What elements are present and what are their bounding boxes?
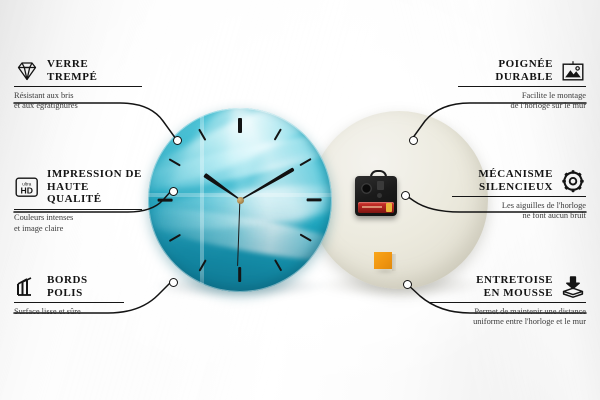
feature-header: ultra HD IMPRESSION DE HAUTE QUALITÉ	[14, 168, 142, 206]
mechanism-switch	[377, 181, 384, 190]
feature-subtitle: Facilite le montage de l'horloge sur le …	[458, 91, 586, 112]
picture-hanger-icon	[560, 59, 586, 83]
feature-header: ENTRETOISE EN MOUSSE	[430, 274, 586, 299]
foam-spacer-icon	[560, 275, 586, 299]
leader-dot-bords-polis	[169, 278, 178, 287]
feature-bords-polis: BORDS POLIS Surface lisse et sûre	[14, 274, 124, 317]
leader-dot-mecanisme	[401, 191, 410, 200]
battery-stripe	[362, 206, 382, 208]
feature-rule	[14, 302, 124, 303]
feature-rule	[14, 86, 142, 87]
feature-subtitle: Surface lisse et sûre	[14, 307, 124, 317]
feature-subtitle: Couleurs intenses et image claire	[14, 213, 142, 234]
foam-spacer	[374, 252, 392, 269]
feature-rule	[430, 302, 586, 303]
leader-dot-poignee	[409, 136, 418, 145]
feature-impression-haute-qualite: ultra HD IMPRESSION DE HAUTE QUALITÉ Cou…	[14, 168, 142, 234]
feature-title: ENTRETOISE EN MOUSSE	[476, 274, 553, 299]
mechanism-screw	[377, 193, 382, 198]
polished-edges-icon	[14, 275, 40, 299]
feature-rule	[14, 209, 142, 210]
feature-rule	[452, 196, 586, 197]
feature-mecanisme-silencieux: MÉCANISME SILENCIEUX Les aig	[452, 168, 586, 221]
feature-title: BORDS POLIS	[47, 274, 88, 299]
feature-poignee-durable: POIGNÉE DURABLE Facilite le montage de l…	[458, 58, 586, 111]
clock-center-hub	[237, 197, 244, 204]
leader-dot-impression	[169, 187, 178, 196]
mechanism-dial	[361, 183, 372, 194]
battery	[358, 202, 394, 213]
ultra-hd-icon: ultra HD	[14, 175, 40, 199]
feature-entretoise-en-mousse: ENTRETOISE EN MOUSSE Permet de maintenir…	[430, 274, 586, 327]
feature-title: VERRE TREMPÉ	[47, 58, 97, 83]
feature-verre-trempe: VERRE TREMPÉ Résistant aux bris et aux é…	[14, 58, 142, 111]
infographic-canvas: VERRE TREMPÉ Résistant aux bris et aux é…	[0, 0, 600, 400]
clock-tick	[158, 198, 173, 201]
clock-tick	[307, 198, 322, 201]
svg-text:HD: HD	[20, 185, 32, 195]
feature-header: BORDS POLIS	[14, 274, 124, 299]
diamond-icon	[14, 59, 40, 83]
feature-subtitle: Les aiguilles de l'horloge ne font aucun…	[452, 201, 586, 222]
feature-header: VERRE TREMPÉ	[14, 58, 142, 83]
feature-subtitle: Permet de maintenir une distance uniform…	[430, 307, 586, 328]
feature-title: IMPRESSION DE HAUTE QUALITÉ	[47, 168, 142, 206]
clock-mechanism	[355, 176, 397, 216]
feature-subtitle: Résistant aux bris et aux égratignures	[14, 91, 142, 112]
feature-rule	[458, 86, 586, 87]
leader-dot-verre-trempe	[173, 136, 182, 145]
feature-header: MÉCANISME SILENCIEUX	[452, 168, 586, 193]
battery-cap	[386, 203, 392, 212]
clock-tick	[238, 118, 241, 133]
clock-tick	[238, 267, 241, 282]
feature-title: MÉCANISME SILENCIEUX	[478, 168, 553, 193]
feature-header: POIGNÉE DURABLE	[458, 58, 586, 83]
feature-title: POIGNÉE DURABLE	[495, 58, 553, 83]
gear-icon	[560, 169, 586, 193]
leader-dot-entretoise	[403, 280, 412, 289]
foam-spacer-side	[392, 254, 396, 271]
